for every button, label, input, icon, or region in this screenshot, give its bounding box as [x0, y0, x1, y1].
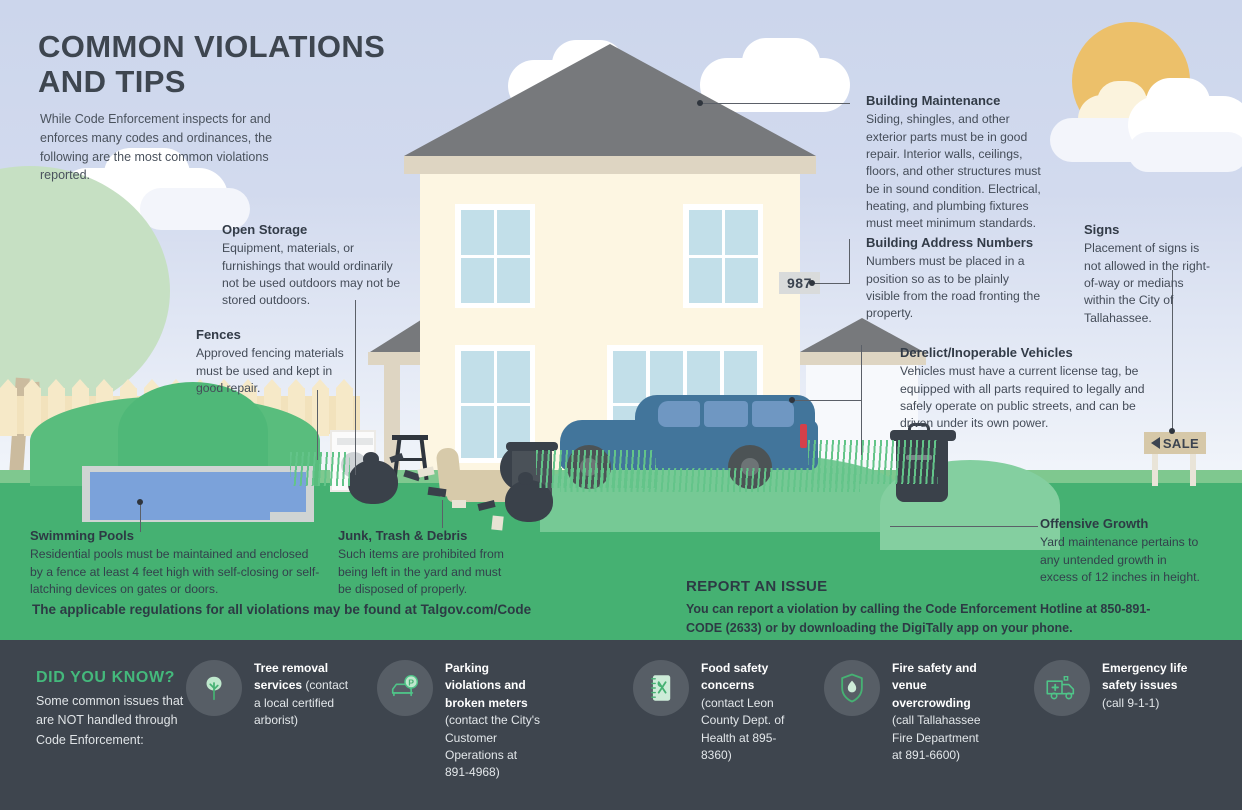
regulations-footnote: The applicable regulations for all viola… — [32, 602, 672, 617]
report-an-issue: REPORT AN ISSUE You can report a violati… — [686, 578, 1156, 638]
footer-item-rest: (call Tallahassee Fire Department at 891… — [892, 713, 981, 762]
callout-signs: Signs Placement of signs is not allowed … — [1084, 222, 1214, 327]
callout-fences: Fences Approved fencing materials must b… — [196, 327, 346, 397]
callout-body: Numbers must be placed in a position so … — [866, 253, 1041, 322]
sale-sign-post — [1152, 450, 1158, 486]
car-window-rear — [752, 401, 794, 427]
footer-item-tree-removal[interactable]: Tree removal services (contact a local c… — [186, 660, 350, 730]
window-pane — [461, 406, 494, 458]
callout-title: Swimming Pools — [30, 528, 320, 544]
trash-bag-knot — [518, 472, 533, 485]
window-pane — [497, 210, 530, 255]
footer-item-rest: (contact the City's Customer Operations … — [445, 713, 540, 779]
leader-line-building-maintenance — [700, 103, 850, 104]
report-body: You can report a violation by calling th… — [686, 600, 1156, 638]
cloud-right-c — [1146, 78, 1210, 126]
window-pane — [497, 258, 530, 303]
intro-text: While Code Enforcement inspects for and … — [40, 110, 302, 185]
window-pane — [725, 210, 758, 255]
car-window-front — [658, 401, 700, 427]
footer-item-fire-safety[interactable]: Fire safety and venue overcrowding (call… — [824, 660, 988, 764]
callout-title: Fences — [196, 327, 346, 343]
footer-item-bold: Parking violations and broken meters — [445, 661, 528, 710]
leader-dot — [1169, 428, 1175, 434]
leader-line-open-storage — [355, 300, 356, 475]
footer-item-food-safety[interactable]: Food safety concerns (contact Leon Count… — [633, 660, 797, 764]
footer-item-parking[interactable]: P Parking violations and broken meters (… — [377, 660, 541, 782]
callout-body: Approved fencing materials must be used … — [196, 345, 346, 397]
callout-body: Such items are prohibited from being lef… — [338, 546, 508, 598]
trash-bag-knot — [363, 452, 379, 466]
car-window-mid — [704, 401, 748, 427]
callout-body: Equipment, materials, or furnishings tha… — [222, 240, 412, 309]
fence-picket — [0, 388, 17, 436]
leader-line-growth — [890, 526, 1038, 527]
callout-title: Junk, Trash & Debris — [338, 528, 508, 544]
callout-title: Building Address Numbers — [866, 235, 1041, 251]
eave-main — [404, 156, 816, 174]
tall-grass — [290, 452, 350, 486]
footer-item-bold: Food safety concerns — [701, 661, 768, 692]
window-pane — [725, 258, 758, 303]
window-pane — [497, 351, 530, 403]
callout-title: Offensive Growth — [1040, 516, 1205, 532]
leader-line-derelict-h — [792, 400, 862, 401]
window-pane — [461, 351, 494, 403]
fire-shield-icon-circle — [824, 660, 880, 716]
callout-body: Residential pools must be maintained and… — [30, 546, 320, 598]
leader-dot — [137, 499, 143, 505]
cloud-right-d — [1128, 132, 1242, 172]
footer-item-text: Fire safety and venue overcrowding (call… — [892, 660, 988, 764]
callout-title: Derelict/Inoperable Vehicles — [900, 345, 1150, 361]
arrow-left-icon — [1151, 437, 1160, 449]
ambulance-icon — [1045, 674, 1079, 702]
footer-item-text: Emergency life safety issues (call 9-1-1… — [1102, 660, 1198, 712]
window-pane — [689, 210, 722, 255]
leader-dot — [809, 280, 815, 286]
callout-swimming-pools: Swimming Pools Residential pools must be… — [30, 528, 320, 598]
page-title-line2: AND TIPS — [38, 65, 385, 100]
footer-item-bold: Emergency life safety issues — [1102, 661, 1187, 692]
fire-shield-icon — [837, 672, 867, 704]
callout-open-storage: Open Storage Equipment, materials, or fu… — [222, 222, 412, 310]
footer-item-rest: (call 9-1-1) — [1102, 696, 1159, 710]
window-pane — [689, 258, 722, 303]
footer-item-emergency[interactable]: Emergency life safety issues (call 9-1-1… — [1034, 660, 1198, 716]
leader-line-junk — [442, 500, 443, 528]
callout-title: Building Maintenance — [866, 93, 1046, 109]
page-title-line1: COMMON VIOLATIONS — [38, 30, 385, 65]
sale-sign-label: SALE — [1163, 436, 1199, 451]
leader-line-address-h — [812, 283, 850, 284]
footer-item-rest: (contact Leon County Dept. of Health at … — [701, 696, 784, 762]
callout-building-address-numbers: Building Address Numbers Numbers must be… — [866, 235, 1041, 323]
footer-item-text: Food safety concerns (contact Leon Count… — [701, 660, 797, 764]
did-you-know-title: DID YOU KNOW? — [36, 669, 175, 687]
callout-junk-trash-debris: Junk, Trash & Debris Such items are proh… — [338, 528, 508, 598]
did-you-know-subtitle: Some common issues that are NOT handled … — [36, 692, 186, 750]
footer-item-text: Parking violations and broken meters (co… — [445, 660, 541, 782]
tree-icon-circle — [186, 660, 242, 716]
food-menu-icon — [647, 673, 675, 703]
callout-building-maintenance: Building Maintenance Siding, shingles, a… — [866, 93, 1046, 233]
sale-sign-board: SALE — [1144, 432, 1206, 454]
callout-title: Open Storage — [222, 222, 412, 238]
callout-offensive-growth: Offensive Growth Yard maintenance pertai… — [1040, 516, 1205, 586]
roof-main — [404, 44, 816, 156]
pool-water-step — [90, 472, 270, 520]
ambulance-icon-circle — [1034, 660, 1090, 716]
callout-body: Vehicles must have a current license tag… — [900, 363, 1150, 432]
leader-dot — [697, 100, 703, 106]
footer-item-text: Tree removal services (contact a local c… — [254, 660, 350, 730]
food-menu-icon-circle — [633, 660, 689, 716]
did-you-know-footer: DID YOU KNOW? Some common issues that ar… — [0, 640, 1242, 810]
page-title: COMMON VIOLATIONS AND TIPS — [38, 30, 385, 99]
leader-line-address-v — [849, 239, 850, 284]
window-pane — [613, 351, 646, 403]
debris-piece — [452, 500, 466, 508]
tree-icon — [199, 673, 229, 703]
window-pane — [461, 210, 494, 255]
leader-line-fences — [317, 390, 318, 460]
callout-body: Placement of signs is not allowed in the… — [1084, 240, 1214, 327]
callout-derelict-vehicles: Derelict/Inoperable Vehicles Vehicles mu… — [900, 345, 1150, 433]
parking-car-icon-circle: P — [377, 660, 433, 716]
callout-body: Siding, shingles, and other exterior par… — [866, 111, 1046, 232]
callout-title: Signs — [1084, 222, 1214, 238]
svg-text:P: P — [408, 678, 414, 688]
parking-car-icon: P — [389, 673, 421, 703]
infographic-poster: 987 — [0, 0, 1242, 810]
leader-dot — [789, 397, 795, 403]
car-taillight — [800, 424, 807, 448]
sale-sign-post — [1190, 450, 1196, 486]
window-pane — [461, 258, 494, 303]
report-title: REPORT AN ISSUE — [686, 578, 1156, 595]
footer-item-bold: Fire safety and venue overcrowding — [892, 661, 977, 710]
tall-grass — [560, 468, 860, 492]
